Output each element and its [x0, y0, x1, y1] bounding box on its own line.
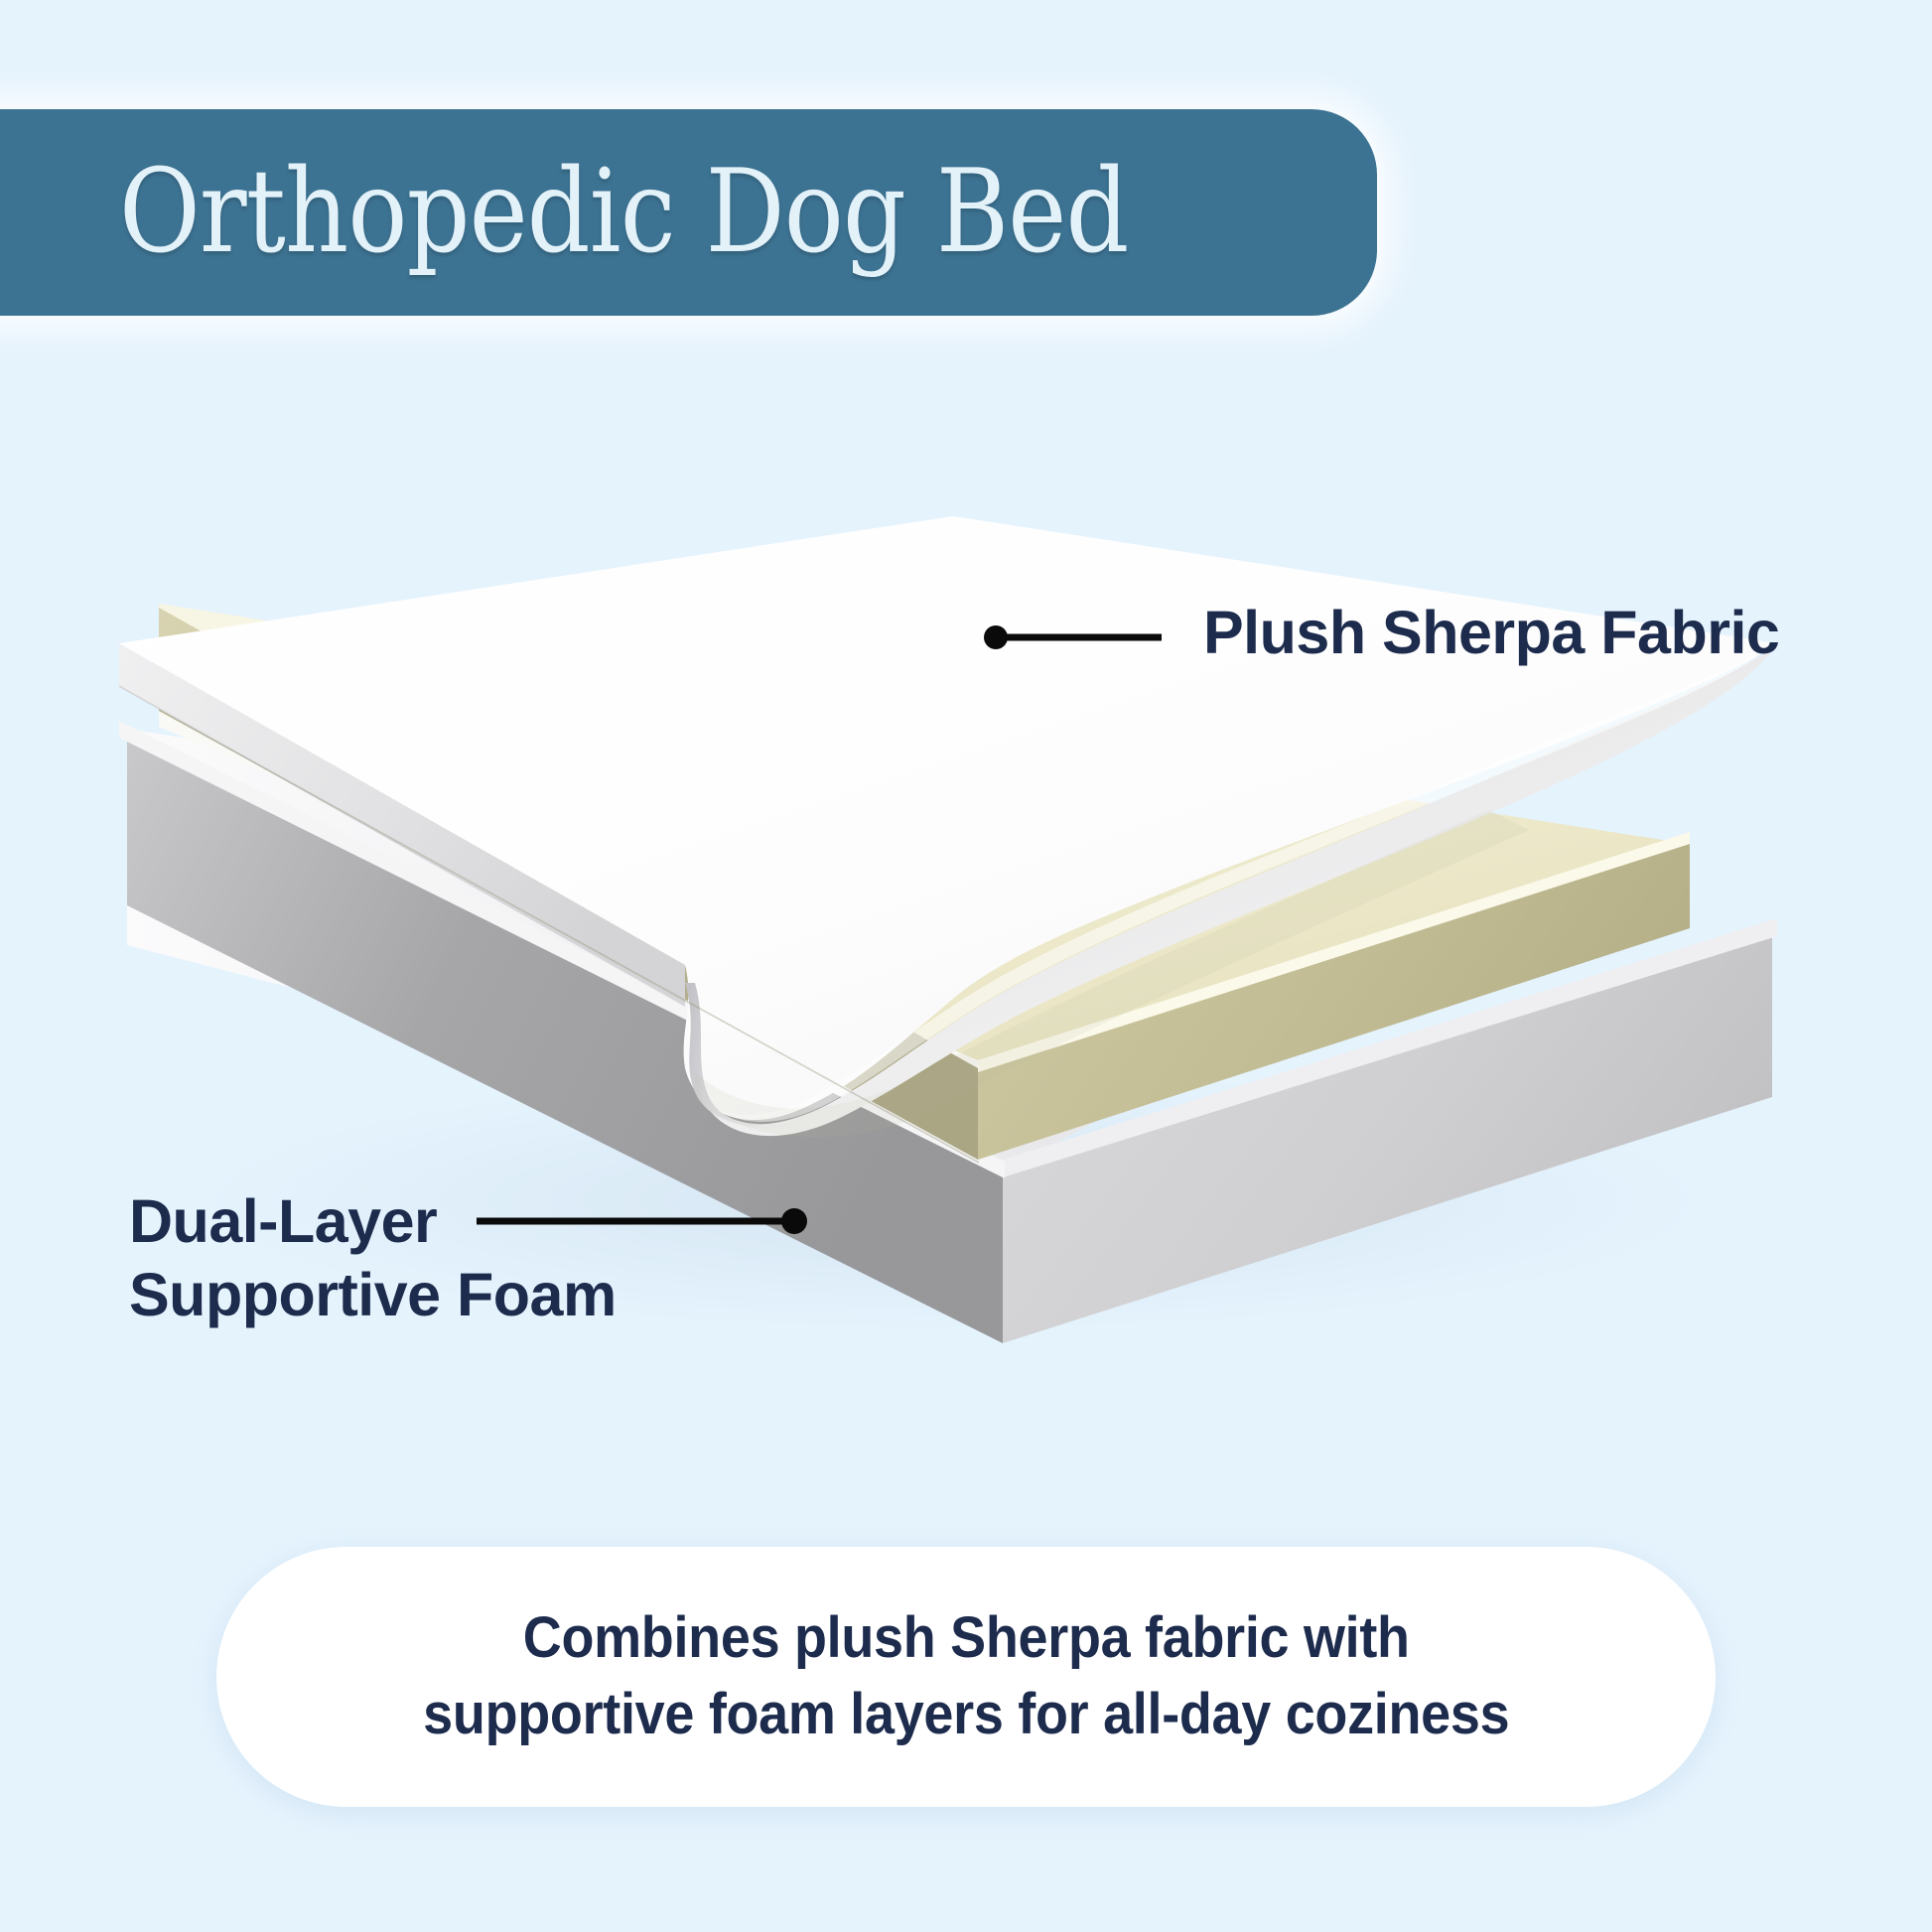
caption-text: Combines plush Sherpa fabric with suppor… — [423, 1600, 1509, 1752]
callout-label-dual-layer-supportive-foam: Dual-Layer Supportive Foam — [129, 1184, 617, 1332]
page-title: Orthopedic Dog Bed — [119, 155, 1128, 270]
title-banner: Orthopedic Dog Bed — [0, 109, 1377, 316]
callout-label-plush-sherpa-fabric: Plush Sherpa Fabric — [1203, 596, 1779, 669]
product-illustration — [0, 516, 1932, 1608]
infographic-canvas: Orthopedic Dog Bed — [0, 0, 1932, 1932]
caption-card: Combines plush Sherpa fabric with suppor… — [216, 1547, 1716, 1807]
